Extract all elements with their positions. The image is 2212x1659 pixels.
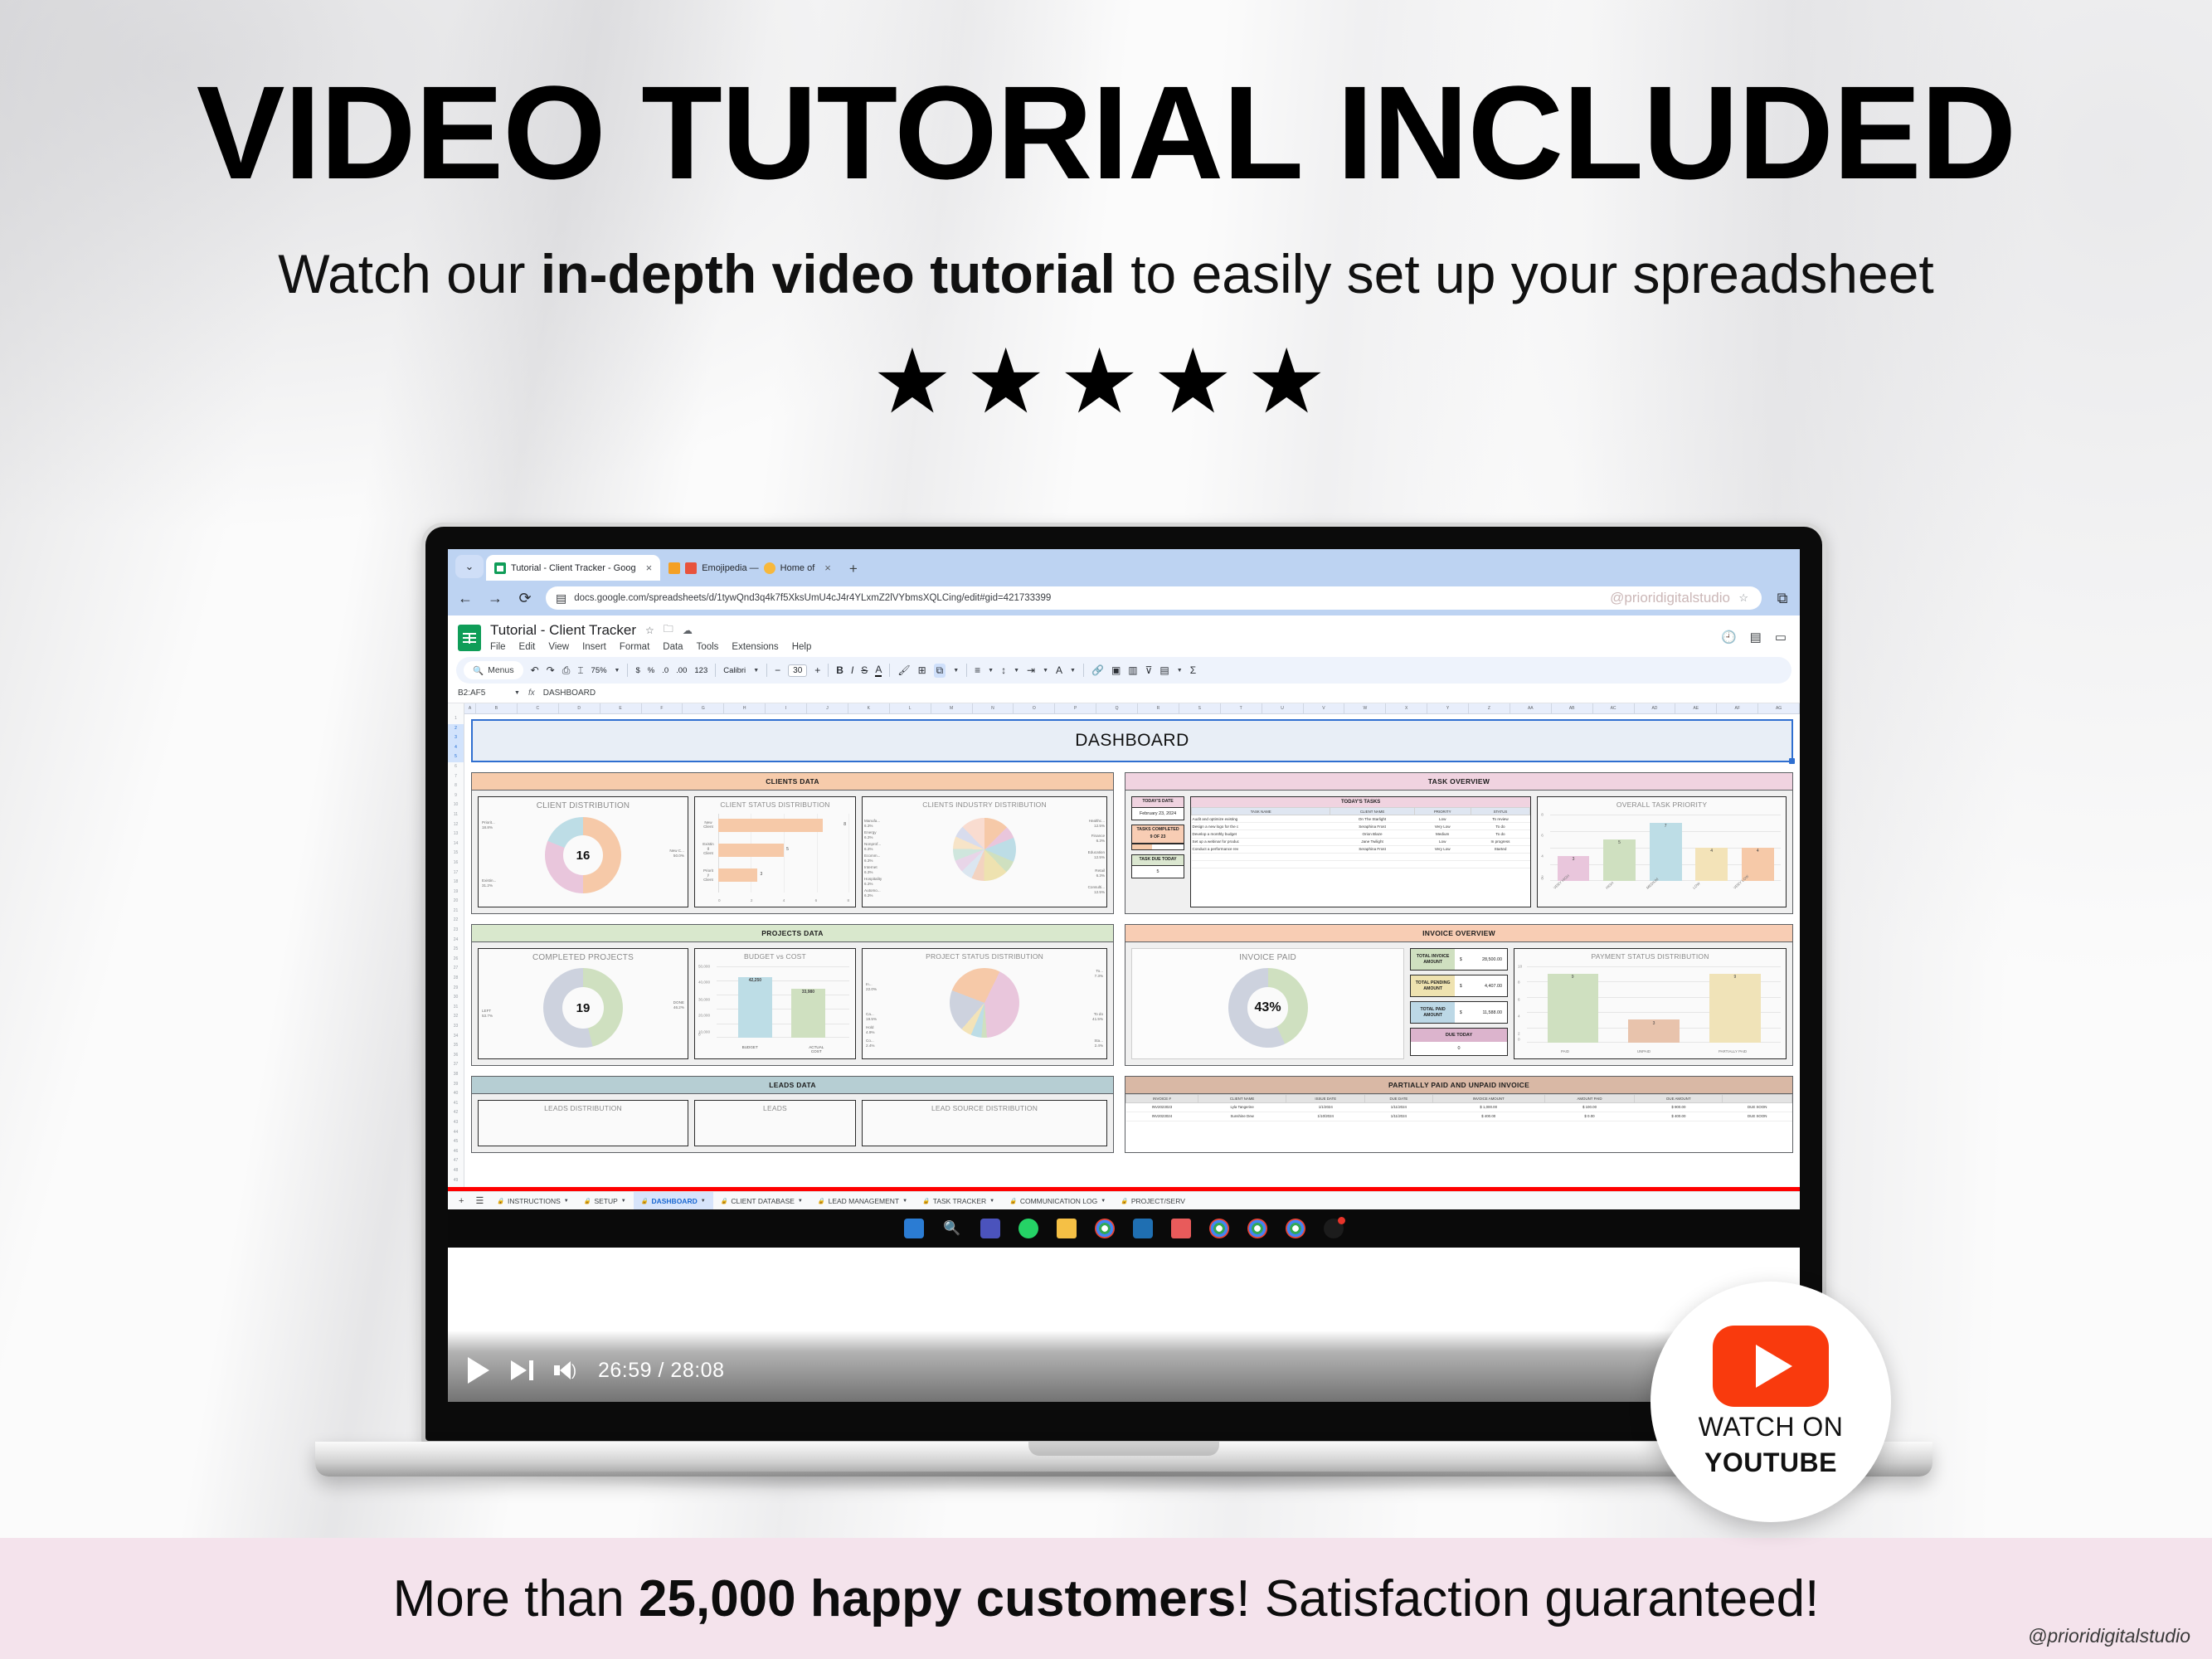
column-header-AF[interactable]: AF xyxy=(1717,703,1758,713)
row-header-33[interactable]: 33 xyxy=(454,1022,459,1032)
laptop-bezel: ⌄ Tutorial - Client Tracker - Goog × Emo… xyxy=(425,527,1822,1441)
row-header-16[interactable]: 16 xyxy=(454,859,459,868)
chrome-icon[interactable] xyxy=(1209,1219,1229,1238)
column-header-AG[interactable]: AG xyxy=(1758,703,1800,713)
row-header-28[interactable]: 28 xyxy=(454,974,459,984)
column-header-AB[interactable]: AB xyxy=(1552,703,1593,713)
close-icon[interactable]: × xyxy=(646,562,653,574)
slice-label-to-be: To...7.3% xyxy=(1095,969,1103,978)
windows-icon[interactable] xyxy=(904,1219,924,1238)
sheet-tab-instructions[interactable]: 🔒INSTRUCTIONS▼ xyxy=(489,1192,576,1209)
fill-color-icon[interactable]: 🖌 xyxy=(897,664,910,676)
folder-icon[interactable] xyxy=(1057,1219,1077,1238)
row-header-6[interactable]: 6 xyxy=(455,762,457,772)
column-header-Q[interactable]: Q xyxy=(1096,703,1138,713)
col-client-name: CLIENT NAME xyxy=(1330,808,1414,815)
cell-due-amount: $ 400.00 xyxy=(1635,1112,1723,1121)
font-family-select[interactable]: Calibri xyxy=(723,666,746,675)
column-header-D[interactable]: D xyxy=(559,703,600,713)
divider xyxy=(1083,664,1084,677)
panel-header: INVOICE OVERVIEW xyxy=(1125,925,1792,942)
chrome-icon[interactable] xyxy=(1286,1219,1305,1238)
row-header-37[interactable]: 37 xyxy=(454,1060,459,1070)
fx-icon: fx xyxy=(528,688,535,698)
todays-date-card: TODAY'S DATE February 23, 2024 xyxy=(1131,796,1184,820)
row-header-22[interactable]: 22 xyxy=(454,916,459,926)
cell-status: In progress xyxy=(1471,838,1530,845)
subtitle-pre: Watch our xyxy=(278,243,541,304)
sheet-tab-communication-log[interactable]: 🔒COMMUNICATION LOG▼ xyxy=(1002,1192,1113,1209)
cell-priority: Low xyxy=(1414,815,1471,823)
cell-client: On The Starlight xyxy=(1330,815,1414,823)
cell-task: Set up a webinar for produc xyxy=(1192,838,1330,845)
x-axis-labels: PAIDUNPAIDPARTIALLY PAID xyxy=(1527,1049,1781,1053)
sheet-tab-label: INSTRUCTIONS xyxy=(508,1197,561,1205)
slice-label-new: New C...50.0% xyxy=(669,849,684,858)
cell-client: Jane Twilight xyxy=(1330,838,1414,845)
chevron-down-icon[interactable]: ▼ xyxy=(953,668,959,674)
kpi-value: 28,500.00 xyxy=(1466,949,1507,970)
row-header-38[interactable]: 38 xyxy=(454,1070,459,1080)
menu-format[interactable]: Format xyxy=(620,642,649,652)
subtitle-bold: in-depth video tutorial xyxy=(541,243,1116,304)
document-title[interactable]: Tutorial - Client Tracker xyxy=(490,622,636,639)
menu-extensions[interactable]: Extensions xyxy=(732,642,778,652)
row-header-17[interactable]: 17 xyxy=(454,868,459,878)
chart-completed-projects[interactable]: COMPLETED PROJECTS 19 DONE46.2% LEFT53.7… xyxy=(478,948,688,1059)
cell-invoice-no: INV2023024 xyxy=(1126,1112,1198,1121)
col-due-date: DUE DATE xyxy=(1365,1095,1433,1103)
cat-label-0: NewClient xyxy=(699,820,717,829)
chevron-down-icon[interactable]: ▼ xyxy=(798,1199,803,1204)
chart-project-status-distribution[interactable]: PROJECT STATUS DISTRIBUTION To...7.3% In… xyxy=(862,948,1107,1059)
slice-label-priority: Priorit...18.8% xyxy=(482,820,495,829)
video-control-overlay: ) 26:59 / 28:08 CC xyxy=(448,1331,1800,1402)
sheets-title-block: Tutorial - Client Tracker ☆ 🗀 ☁ File Edi… xyxy=(490,621,811,652)
column-header-Y[interactable]: Y xyxy=(1427,703,1469,713)
hero-subtitle: Watch our in-depth video tutorial to eas… xyxy=(0,242,2212,305)
column-header-N[interactable]: N xyxy=(973,703,1014,713)
column-header-U[interactable]: U xyxy=(1262,703,1304,713)
row-header-49[interactable]: 49 xyxy=(454,1176,459,1186)
site-info-icon[interactable]: ▤ xyxy=(556,591,566,606)
column-header-P[interactable]: P xyxy=(1055,703,1096,713)
vertical-align-icon[interactable]: ↕ xyxy=(1001,664,1006,676)
bar-paid xyxy=(1548,974,1598,1043)
browser-omnibar: ← → ⟳ ▤ docs.google.com/spreadsheets/d/1… xyxy=(448,581,1800,615)
text-color-button[interactable]: A xyxy=(875,664,882,677)
row-header-47[interactable]: 47 xyxy=(454,1156,459,1166)
functions-icon[interactable]: ▤ xyxy=(1159,664,1169,676)
chevron-down-icon[interactable]: ▼ xyxy=(902,1199,907,1204)
volume-icon[interactable]: ) xyxy=(555,1361,576,1379)
row-header-34[interactable]: 34 xyxy=(454,1032,459,1042)
kpi-total-paid-amount: TOTAL PAID AMOUNT $ 11,588.00 xyxy=(1410,1001,1508,1024)
chevron-down-icon[interactable]: ▼ xyxy=(564,1199,569,1204)
youtube-play-icon xyxy=(1713,1326,1829,1407)
slice-label-done: DONE46.2% xyxy=(673,1000,684,1010)
chart-title: LEADS DISTRIBUTION xyxy=(544,1105,622,1113)
cell-issue-date: 1/1/2024 xyxy=(1286,1103,1365,1112)
row-header-8[interactable]: 8 xyxy=(455,781,457,791)
divider xyxy=(627,664,628,677)
table-row: INV2023023 Lyla Tangerine 1/1/2024 1/11/… xyxy=(1126,1103,1792,1112)
kpi-currency: $ xyxy=(1455,1002,1466,1023)
whatsapp-icon[interactable] xyxy=(1018,1219,1038,1238)
column-header-I[interactable]: I xyxy=(766,703,807,713)
column-header-H[interactable]: H xyxy=(724,703,766,713)
column-header-A[interactable]: A xyxy=(464,703,476,713)
horizontal-align-icon[interactable]: ≡ xyxy=(975,664,980,676)
badge-line-1: WATCH ON xyxy=(1699,1412,1844,1443)
row-header-24[interactable]: 24 xyxy=(454,936,459,946)
card-value: 9 OF 23 xyxy=(1132,835,1184,844)
bar-area: 9 3 9 1086420 xyxy=(1518,965,1782,1054)
cell-issue-date: 1/10/2024 xyxy=(1286,1112,1365,1121)
chart-clients-industry-distribution[interactable]: CLIENTS INDUSTRY DISTRIBUTION Manufa...6… xyxy=(862,796,1107,907)
bar-area: 8 5 3 NewClient Exist xyxy=(698,814,852,902)
percent-format-button[interactable]: % xyxy=(648,666,654,675)
dashboard-canvas: DASHBOARD CLIENTS DATA CLIENT DI xyxy=(464,714,1800,1191)
column-header-J[interactable]: J xyxy=(807,703,848,713)
plot-area: 8 5 3 xyxy=(718,814,849,893)
chevron-down-icon[interactable]: ▼ xyxy=(989,1199,994,1204)
sheets-logo-icon[interactable] xyxy=(458,625,481,651)
row-header-7[interactable]: 7 xyxy=(455,772,457,782)
chrome-icon[interactable] xyxy=(1247,1219,1267,1238)
row-header-43[interactable]: 43 xyxy=(454,1118,459,1128)
meet-icon[interactable]: ▭ xyxy=(1775,630,1787,645)
cell-priority: Medium xyxy=(1414,830,1471,838)
kpi-total-pending-amount: TOTAL PENDING AMOUNT $ 4,407.00 xyxy=(1410,975,1508,997)
chart-overall-task-priority[interactable]: OVERALL TASK PRIORITY 3 xyxy=(1537,796,1787,907)
emoji-icon xyxy=(668,562,680,574)
play-icon[interactable] xyxy=(468,1357,489,1384)
lock-icon: 🔒 xyxy=(1009,1198,1017,1204)
kpi-label: TOTAL INVOICE AMOUNT xyxy=(1411,949,1455,970)
column-headers: ABCDEFGHIJKLMNOPQRSTUVWXYZAAABACADAEAFAG xyxy=(464,703,1800,714)
strikethrough-button[interactable]: S xyxy=(861,664,868,676)
row-header-25[interactable]: 25 xyxy=(454,945,459,955)
row-header-3[interactable]: 3 xyxy=(448,733,464,743)
sheets-toolbar: 🔍 Menus ↶ ↷ ⎙ ⌶ 75% ▼ $ % .0 .00 123 xyxy=(456,657,1791,684)
brand-handle: @prioridigitalstudio xyxy=(2028,1625,2190,1647)
menus-search-button[interactable]: 🔍 Menus xyxy=(464,661,523,679)
address-bar[interactable]: ▤ docs.google.com/spreadsheets/d/1tywQnd… xyxy=(546,586,1762,610)
row-header-23[interactable]: 23 xyxy=(454,926,459,936)
next-track-icon[interactable] xyxy=(511,1360,533,1380)
sheets-header-right: 🕘 ▤ ▭ xyxy=(1721,621,1790,652)
slice-label-automotive: Automo...6.3% xyxy=(864,888,881,898)
cloud-saved-icon[interactable]: ☁ xyxy=(683,625,693,636)
column-header-G[interactable]: G xyxy=(683,703,724,713)
sheet-tab-projects[interactable]: 🔒PROJECT/SERV xyxy=(1113,1192,1193,1209)
new-tab-button[interactable]: + xyxy=(839,561,868,581)
col-amount-paid: AMOUNT PAID xyxy=(1544,1095,1635,1103)
panel-header: PARTIALLY PAID AND UNPAID INVOICE xyxy=(1125,1077,1792,1094)
table-row: Audit and optimize existingOn The Starli… xyxy=(1192,815,1530,823)
currency-format-button[interactable]: $ xyxy=(635,666,639,675)
plot-area: 9 3 9 xyxy=(1527,966,1781,1043)
search-icon: 🔍 xyxy=(473,665,484,676)
borders-icon[interactable]: ⊞ xyxy=(918,664,926,676)
column-header-K[interactable]: K xyxy=(848,703,890,713)
increase-decimal-button[interactable]: .00 xyxy=(676,666,687,675)
chart-invoice-paid[interactable]: INVOICE PAID 43% xyxy=(1131,948,1404,1059)
lock-icon: 🔒 xyxy=(1121,1198,1128,1204)
row-header-1[interactable]: 1 xyxy=(455,714,457,724)
search-icon[interactable]: 🔍 xyxy=(942,1219,962,1238)
lock-icon: 🔒 xyxy=(721,1198,728,1204)
cell-priority: Very Low xyxy=(1414,845,1471,853)
column-header-AC[interactable]: AC xyxy=(1593,703,1635,713)
text-rotation-icon[interactable]: A xyxy=(1056,664,1062,676)
column-header-AE[interactable]: AE xyxy=(1675,703,1717,713)
chart-title: INVOICE PAID xyxy=(1239,953,1296,962)
sheet-tab-task-tracker[interactable]: 🔒TASK TRACKER▼ xyxy=(915,1192,1002,1209)
record-icon[interactable] xyxy=(1324,1219,1344,1238)
row-header-13[interactable]: 13 xyxy=(454,829,459,839)
row-header-41[interactable]: 41 xyxy=(454,1099,459,1109)
row-header-5[interactable]: 5 xyxy=(448,752,464,762)
footer-pre: More than xyxy=(393,1570,639,1627)
column-header-B[interactable]: B xyxy=(476,703,518,713)
row-header-4[interactable]: 4 xyxy=(448,743,464,753)
column-header-M[interactable]: M xyxy=(931,703,973,713)
formula-value[interactable]: DASHBOARD xyxy=(543,688,596,698)
insert-comment-icon[interactable]: ▣ xyxy=(1111,664,1121,676)
row-header-11[interactable]: 11 xyxy=(454,810,458,820)
cell-amount-paid: $ 0.00 xyxy=(1544,1112,1635,1121)
dashboard-row-2: PROJECTS DATA COMPLETED PROJECTS 19 DONE… xyxy=(471,924,1793,1066)
chart-title: CLIENTS INDUSTRY DISTRIBUTION xyxy=(922,801,1047,810)
column-header-AA[interactable]: AA xyxy=(1510,703,1552,713)
card-label: TODAY'S DATE xyxy=(1132,797,1184,808)
increase-font-size-button[interactable]: + xyxy=(814,664,820,676)
chrome-icon[interactable] xyxy=(1095,1219,1115,1238)
sum-icon[interactable]: Σ xyxy=(1190,664,1196,676)
row-header-19[interactable]: 19 xyxy=(454,888,459,898)
history-icon[interactable]: 🕘 xyxy=(1721,630,1737,645)
dashboard-title-cell[interactable]: DASHBOARD xyxy=(471,719,1793,762)
forward-arrow-icon[interactable]: → xyxy=(486,590,504,607)
row-header-26[interactable]: 26 xyxy=(454,955,459,965)
sheet-tab-label: TASK TRACKER xyxy=(933,1197,986,1205)
zoom-level[interactable]: 75% xyxy=(591,666,607,675)
store-icon[interactable] xyxy=(1133,1219,1153,1238)
panel-header: TASK OVERVIEW xyxy=(1125,773,1792,791)
column-header-W[interactable]: W xyxy=(1344,703,1386,713)
print-icon[interactable]: ⎙ xyxy=(562,664,571,677)
menu-view[interactable]: View xyxy=(548,642,569,652)
kpi-currency: $ xyxy=(1455,975,1466,996)
sheet-tab-label: DASHBOARD xyxy=(651,1197,697,1205)
menu-insert[interactable]: Insert xyxy=(582,642,606,652)
cell-status: DUE SOON xyxy=(1723,1112,1792,1121)
laptop-screen: ⌄ Tutorial - Client Tracker - Goog × Emo… xyxy=(448,549,1800,1402)
puzzle-icon[interactable]: ⧉ xyxy=(1773,590,1791,607)
todays-tasks-table[interactable]: TODAY'S TASKS TASK NAME CLIENT NAME PRIO… xyxy=(1190,796,1531,907)
merge-cells-icon[interactable]: ⧉ xyxy=(934,664,946,678)
column-header-Z[interactable]: Z xyxy=(1469,703,1510,713)
chevron-down-icon[interactable]: ▼ xyxy=(1043,668,1048,674)
row-header-9[interactable]: 9 xyxy=(455,791,457,801)
row-header-15[interactable]: 15 xyxy=(454,849,459,859)
cell-status: To do xyxy=(1471,830,1530,838)
row-header-20[interactable]: 20 xyxy=(454,897,459,907)
chart-leads-distribution[interactable]: LEADS DISTRIBUTION xyxy=(478,1100,688,1146)
chart-payment-status-distribution[interactable]: PAYMENT STATUS DISTRIBUTION 9 xyxy=(1514,948,1787,1059)
col-client-name: CLIENT NAME xyxy=(1198,1095,1286,1103)
column-header-S[interactable]: S xyxy=(1179,703,1221,713)
row-header-35[interactable]: 35 xyxy=(454,1041,459,1051)
back-arrow-icon[interactable]: ← xyxy=(456,590,474,607)
kpi-total-invoice-amount: TOTAL INVOICE AMOUNT $ 28,500.00 xyxy=(1410,948,1508,971)
name-box[interactable]: B2:AF5 xyxy=(458,688,506,698)
column-header-O[interactable]: O xyxy=(1014,703,1055,713)
star-icon[interactable]: ☆ xyxy=(645,625,654,636)
bold-button[interactable]: B xyxy=(836,664,843,676)
teams-icon[interactable] xyxy=(980,1219,1000,1238)
row-header-18[interactable]: 18 xyxy=(454,878,459,888)
column-header-T[interactable]: T xyxy=(1221,703,1262,713)
duration: 28:08 xyxy=(670,1359,724,1382)
sheet-tab-dashboard[interactable]: 🔒DASHBOARD▼ xyxy=(634,1192,713,1209)
sheet-tab-lead-management[interactable]: 🔒LEAD MANAGEMENT▼ xyxy=(810,1192,915,1209)
close-icon[interactable]: × xyxy=(824,562,831,574)
chart-client-status-distribution[interactable]: CLIENT STATUS DISTRIBUTION xyxy=(694,796,856,907)
chevron-down-icon[interactable]: ▼ xyxy=(988,668,994,674)
column-header-AD[interactable]: AD xyxy=(1635,703,1676,713)
reload-icon[interactable]: ⟳ xyxy=(516,590,534,607)
comment-icon[interactable]: ▤ xyxy=(1750,630,1762,645)
paint-format-icon[interactable]: ⌶ xyxy=(577,664,583,677)
all-sheets-icon[interactable]: ☰ xyxy=(469,1195,489,1206)
bar-actual-cost xyxy=(791,989,826,1038)
bar-budget xyxy=(738,977,773,1038)
slice-label-to-do: To do41.5% xyxy=(1092,1012,1103,1021)
spreadsheet-grid: 1234567891011121314151617181920212223242… xyxy=(448,703,1800,1191)
table-row: Conduct a performance revSeraphina Frost… xyxy=(1192,845,1530,853)
text-wrap-icon[interactable]: ⇥ xyxy=(1027,664,1035,676)
cell-due-date: 1/11/2024 xyxy=(1365,1103,1433,1112)
x-axis-ticks: 02468 xyxy=(718,898,849,902)
column-header-C[interactable]: C xyxy=(518,703,559,713)
chart-lead-source-distribution[interactable]: LEAD SOURCE DISTRIBUTION xyxy=(862,1100,1107,1146)
decrease-font-size-button[interactable]: − xyxy=(775,664,780,676)
chevron-down-icon[interactable]: ▼ xyxy=(753,668,759,674)
chart-client-distribution[interactable]: CLIENT DISTRIBUTION 16 Priorit...18.8% N… xyxy=(478,796,688,907)
row-header-46[interactable]: 46 xyxy=(454,1147,459,1157)
chevron-down-icon[interactable]: ▼ xyxy=(514,690,520,696)
row-header-12[interactable]: 12 xyxy=(454,820,459,830)
cell-invoice-amount: $ 400.00 xyxy=(1432,1112,1544,1121)
italic-button[interactable]: I xyxy=(851,664,853,676)
row-header-27[interactable]: 27 xyxy=(454,964,459,974)
panel-body: LEADS DISTRIBUTION LEADS LEAD SOURCE DIS… xyxy=(472,1094,1113,1152)
decrease-decimal-button[interactable]: .0 xyxy=(662,666,668,675)
row-header-42[interactable]: 42 xyxy=(454,1108,459,1118)
column-header-R[interactable]: R xyxy=(1138,703,1179,713)
menu-file[interactable]: File xyxy=(490,642,506,652)
chevron-down-icon[interactable]: ▼ xyxy=(1101,1199,1106,1204)
row-header-14[interactable]: 14 xyxy=(454,839,459,849)
sheet-tab-setup[interactable]: 🔒SETUP▼ xyxy=(576,1192,634,1209)
font-size-input[interactable]: 30 xyxy=(788,664,807,677)
row-header-10[interactable]: 10 xyxy=(454,800,459,810)
chevron-down-icon[interactable]: ▼ xyxy=(615,668,620,674)
chart-budget-vs-cost[interactable]: BUDGET vs COST 42,250 xyxy=(694,948,856,1059)
row-header-48[interactable]: 48 xyxy=(454,1166,459,1176)
move-folder-icon[interactable]: 🗀 xyxy=(664,621,673,639)
bookmark-star-icon[interactable]: ☆ xyxy=(1738,591,1748,605)
row-header-45[interactable]: 45 xyxy=(454,1137,459,1147)
row-header-40[interactable]: 40 xyxy=(454,1089,459,1099)
chevron-down-icon[interactable]: ▼ xyxy=(701,1199,706,1204)
snip-icon[interactable] xyxy=(1171,1219,1191,1238)
column-header-L[interactable]: L xyxy=(890,703,931,713)
chevron-down-icon[interactable]: ▼ xyxy=(1070,668,1076,674)
redo-icon[interactable]: ↷ xyxy=(547,664,555,676)
row-header-29[interactable]: 29 xyxy=(454,984,459,994)
panel-body: COMPLETED PROJECTS 19 DONE46.2% LEFT53.7… xyxy=(472,942,1113,1065)
slice-label-manufacturing: Manufa...6.3% xyxy=(864,819,880,828)
kpi-label: TOTAL PENDING AMOUNT xyxy=(1411,975,1455,996)
unpaid-invoice-table[interactable]: INVOICE # CLIENT NAME ISSUE DATE DUE DAT… xyxy=(1125,1094,1792,1121)
menu-tools[interactable]: Tools xyxy=(697,642,719,652)
row-header-21[interactable]: 21 xyxy=(454,907,459,917)
chevron-down-icon[interactable]: ▼ xyxy=(1014,668,1019,674)
add-sheet-icon[interactable]: + xyxy=(453,1196,469,1206)
browser-tab-0[interactable]: Tutorial - Client Tracker - Goog × xyxy=(486,555,660,581)
browser-tab-1[interactable]: Emojipedia — Home of × xyxy=(660,555,839,581)
col-status xyxy=(1723,1095,1792,1103)
chart-title: PAYMENT STATUS DISTRIBUTION xyxy=(1592,953,1709,961)
column-header-F[interactable]: F xyxy=(642,703,683,713)
menu-data[interactable]: Data xyxy=(663,642,683,652)
column-header-V[interactable]: V xyxy=(1304,703,1345,713)
insert-link-icon[interactable]: 🔗 xyxy=(1091,664,1104,676)
tab-search-chevron-icon[interactable]: ⌄ xyxy=(455,555,484,578)
row-header-30[interactable]: 30 xyxy=(454,993,459,1003)
sheet-tab-client-database[interactable]: 🔒CLIENT DATABASE▼ xyxy=(713,1192,810,1209)
row-header-39[interactable]: 39 xyxy=(454,1080,459,1090)
create-filter-icon[interactable]: ⊽ xyxy=(1145,664,1153,676)
footer-bold: 25,000 happy customers xyxy=(639,1570,1236,1627)
menu-edit[interactable]: Edit xyxy=(519,642,536,652)
menu-help[interactable]: Help xyxy=(792,642,812,652)
chart-title: LEAD SOURCE DISTRIBUTION xyxy=(931,1105,1038,1113)
column-header-X[interactable]: X xyxy=(1386,703,1427,713)
row-header-44[interactable]: 44 xyxy=(454,1128,459,1138)
chevron-down-icon[interactable]: ▼ xyxy=(621,1199,626,1204)
kpi-value: 4,407.00 xyxy=(1466,975,1507,996)
row-header-36[interactable]: 36 xyxy=(454,1051,459,1061)
watch-on-youtube-badge[interactable]: WATCH ON YOUTUBE xyxy=(1650,1282,1891,1522)
row-header-2[interactable]: 2 xyxy=(448,724,464,734)
video-progress-bar[interactable] xyxy=(448,1187,1800,1191)
undo-icon[interactable]: ↶ xyxy=(531,664,539,676)
row-header-32[interactable]: 32 xyxy=(454,1012,459,1022)
more-formats-button[interactable]: 123 xyxy=(694,666,707,675)
col-due-amount: DUE AMOUNT xyxy=(1635,1095,1723,1103)
chart-leads[interactable]: LEADS xyxy=(694,1100,856,1146)
insert-chart-icon[interactable]: ▥ xyxy=(1128,664,1137,676)
column-header-E[interactable]: E xyxy=(600,703,642,713)
footer-banner: More than 25,000 happy customers! Satisf… xyxy=(0,1538,2212,1659)
chevron-down-icon[interactable]: ▼ xyxy=(1177,668,1183,674)
row-header-31[interactable]: 31 xyxy=(454,1003,459,1013)
